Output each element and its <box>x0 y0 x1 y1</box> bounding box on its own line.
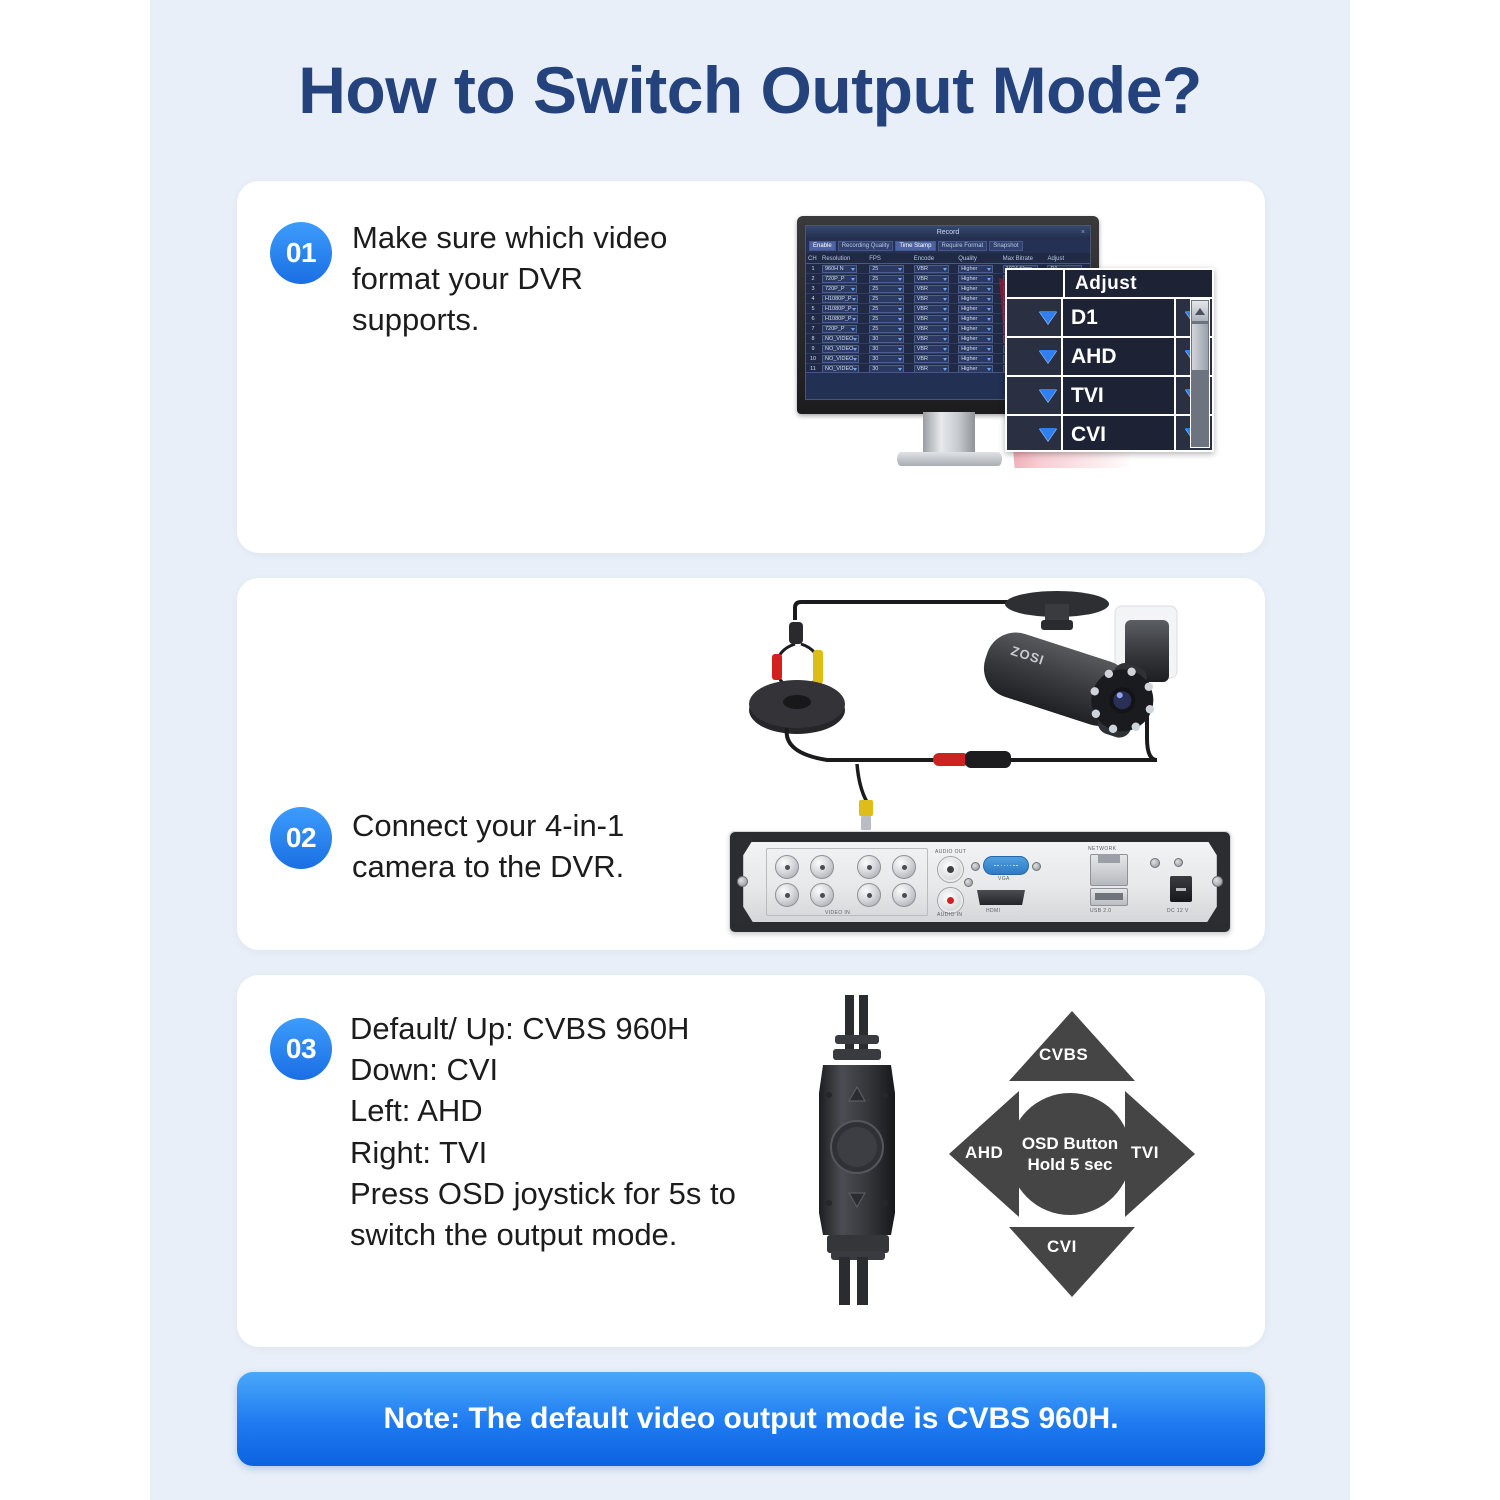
label-cvbs: CVBS <box>1039 1045 1088 1065</box>
audio-in-label: AUDIO IN <box>937 912 962 918</box>
dvr-bottom-edge <box>730 922 1230 932</box>
vga-screw-right-icon <box>1032 862 1041 871</box>
step-number-badge-03: 03 <box>270 1018 332 1080</box>
audio-out-port[interactable] <box>938 857 963 882</box>
step-card-02: 02 Connect your 4-in-1 camera to the DVR… <box>237 578 1265 950</box>
cell-encode[interactable]: VBR <box>912 354 956 364</box>
chevron-down-icon[interactable] <box>1039 350 1057 363</box>
cell-quality[interactable]: Higher <box>956 294 1000 304</box>
cell-quality[interactable]: Higher <box>956 324 1000 334</box>
record-window-titlebar: Record × <box>806 226 1090 239</box>
osd-center-line1: OSD Button <box>1022 1133 1118 1154</box>
adjust-panel-header: Adjust <box>1007 270 1212 299</box>
cell-fps[interactable]: 25 <box>867 264 911 274</box>
col-ch: CH <box>806 255 820 264</box>
osd-button-center[interactable]: OSD Button Hold 5 sec <box>1009 1093 1131 1215</box>
bnc-port-1[interactable] <box>775 855 799 879</box>
col-resolution: Resolution <box>820 255 867 264</box>
cell-encode[interactable]: VBR <box>912 324 956 334</box>
hdmi-port[interactable] <box>977 890 1025 905</box>
adjust-magnified-panel: Adjust D1AHDTVICVI <box>1005 268 1214 452</box>
bnc-port-7[interactable] <box>892 855 916 879</box>
cell-encode[interactable]: VBR <box>912 274 956 284</box>
cell-resolution[interactable]: 720P_P <box>820 274 867 284</box>
joystick-svg <box>797 995 927 1305</box>
cell-ch: 9 <box>806 344 820 354</box>
network-port[interactable] <box>1090 854 1128 886</box>
col-quality: Quality <box>956 255 1000 264</box>
scrollbar-thumb[interactable] <box>1192 324 1208 370</box>
chevron-down-icon[interactable] <box>1039 311 1057 324</box>
cell-encode[interactable]: VBR <box>912 264 956 274</box>
ground-icon <box>1174 858 1183 867</box>
adjust-left-chevron-cell[interactable] <box>1007 416 1063 452</box>
cell-resolution[interactable]: H1080P_P <box>820 304 867 314</box>
cell-ch: 8 <box>806 334 820 344</box>
cell-quality[interactable]: Higher <box>956 264 1000 274</box>
adjust-option-rows: D1AHDTVICVI <box>1007 299 1212 452</box>
cell-ch: 1 <box>806 264 820 274</box>
col-adjust: Adjust <box>1045 255 1090 264</box>
step-card-01: 01 Make sure which video format your DVR… <box>237 181 1265 553</box>
cell-resolution[interactable]: H1080P_P <box>820 314 867 324</box>
cell-quality[interactable]: Higher <box>956 344 1000 354</box>
camera-wiring-diagram: ZOSI <box>737 588 1207 838</box>
camera-dvr-illustration: ZOSI <box>727 588 1247 948</box>
output-mode-diamond: CVBS TVI CVI AHD OSD Button Hold 5 sec <box>947 1009 1197 1299</box>
monitor-stand-base <box>897 452 1002 466</box>
adjust-option-label: TVI <box>1063 384 1174 408</box>
cell-fps[interactable]: 30 <box>867 334 911 344</box>
cell-fps[interactable]: 25 <box>867 314 911 324</box>
cell-quality[interactable]: Higher <box>956 334 1000 344</box>
screw-mid-icon <box>964 878 973 887</box>
step-number-badge-02: 02 <box>270 807 332 869</box>
cell-resolution[interactable]: NO_VIDEO <box>820 334 867 344</box>
vga-label: VGA <box>998 876 1010 882</box>
adjust-option-label: CVI <box>1063 423 1174 447</box>
bnc-port-8[interactable] <box>892 883 916 907</box>
monitor-stand-neck <box>923 412 975 456</box>
close-icon[interactable]: × <box>1081 226 1085 239</box>
video-in-group: VIDEO IN <box>766 848 928 916</box>
note-banner: Note: The default video output mode is C… <box>237 1372 1265 1466</box>
screw-dc-icon <box>1150 858 1160 868</box>
adjust-option-row[interactable]: D1 <box>1007 299 1212 338</box>
adjust-left-chevron-cell[interactable] <box>1007 299 1063 336</box>
screw-left-icon <box>737 876 748 887</box>
page-title: How to Switch Output Mode? <box>150 52 1350 128</box>
cell-fps[interactable]: 30 <box>867 354 911 364</box>
adjust-option-row[interactable]: CVI <box>1007 416 1212 452</box>
label-cvi: CVI <box>1047 1237 1077 1257</box>
cell-resolution[interactable]: NO_VIDEO <box>820 344 867 354</box>
cell-encode[interactable]: VBR <box>912 284 956 294</box>
cell-quality[interactable]: Higher <box>956 274 1000 284</box>
tab-time-stamp[interactable]: Time Stamp <box>895 241 935 251</box>
usb-port[interactable] <box>1090 888 1128 906</box>
dc-power-port[interactable] <box>1170 876 1192 902</box>
bnc-port-3[interactable] <box>810 855 834 879</box>
step-text-02: Connect your 4-in-1 camera to the DVR. <box>352 805 692 887</box>
cell-resolution[interactable]: H1080P_P <box>820 294 867 304</box>
table-header-row: CH Resolution FPS Encode Quality Max Bit… <box>806 255 1090 264</box>
record-tab-bar: Enable Recording Quality Time Stamp Requ… <box>806 239 1090 253</box>
col-fps: FPS <box>867 255 911 264</box>
cell-quality[interactable]: Higher <box>956 284 1000 294</box>
record-window-title: Record <box>937 229 960 236</box>
usb-label: USB 2.0 <box>1090 908 1111 914</box>
adjust-left-chevron-cell[interactable] <box>1007 377 1063 414</box>
step-text-03: Default/ Up: CVBS 960H Down: CVI Left: A… <box>350 1008 770 1255</box>
cell-fps[interactable]: 25 <box>867 324 911 334</box>
audio-in-port[interactable] <box>938 888 963 913</box>
vga-screw-left-icon <box>971 862 980 871</box>
bnc-port-6[interactable] <box>857 883 881 907</box>
note-text: Note: The default video output mode is C… <box>383 1402 1118 1436</box>
cell-fps[interactable]: 25 <box>867 284 911 294</box>
cell-resolution[interactable]: NO_VIDEO <box>820 354 867 364</box>
cell-ch: 7 <box>806 324 820 334</box>
tab-snapshot[interactable]: Snapshot <box>989 241 1022 251</box>
cell-encode[interactable]: VBR <box>912 294 956 304</box>
osd-center-line2: Hold 5 sec <box>1027 1154 1112 1175</box>
step-number-badge-01: 01 <box>270 222 332 284</box>
cell-encode[interactable]: VBR <box>912 334 956 344</box>
cell-encode[interactable]: VBR <box>912 344 956 354</box>
cell-ch: 4 <box>806 294 820 304</box>
adjust-option-label: D1 <box>1063 306 1174 330</box>
bnc-port-4[interactable] <box>810 883 834 907</box>
adjust-left-chevron-cell[interactable] <box>1007 338 1063 375</box>
cell-ch: 6 <box>806 314 820 324</box>
cell-resolution[interactable]: 960H N <box>820 264 867 274</box>
col-encode: Encode <box>912 255 956 264</box>
video-in-label: VIDEO IN <box>825 910 850 916</box>
cell-quality[interactable]: Higher <box>956 304 1000 314</box>
adjust-scrollbar[interactable] <box>1190 299 1210 448</box>
dvr-top-edge <box>730 832 1230 842</box>
cell-ch: 3 <box>806 284 820 294</box>
tab-require-format[interactable]: Require Format <box>938 241 988 251</box>
camera-wiring-svg: ZOSI <box>737 588 1207 838</box>
scroll-up-icon[interactable] <box>1192 301 1208 321</box>
dvr-monitor-illustration: Record × Enable Recording Quality Time S… <box>737 208 1237 508</box>
tab-recording-quality[interactable]: Recording Quality <box>838 241 894 251</box>
osd-joystick-connector <box>797 995 927 1305</box>
cell-ch: 2 <box>806 274 820 284</box>
adjust-option-row[interactable]: TVI <box>1007 377 1212 416</box>
col-max-bitrate: Max Bitrate <box>1001 255 1046 264</box>
hdmi-label: HDMI <box>986 908 1000 914</box>
adjust-header-blank <box>1007 270 1065 297</box>
cell-quality[interactable]: Higher <box>956 354 1000 364</box>
step-card-03: 03 Default/ Up: CVBS 960H Down: CVI Left… <box>237 975 1265 1347</box>
dvr-rear-panel: VIDEO IN AUDIO OUT AUDIO IN VGA HDMI NET… <box>729 831 1231 933</box>
bnc-port-5[interactable] <box>857 855 881 879</box>
page-container: How to Switch Output Mode? 01 Make sure … <box>150 0 1350 1500</box>
cell-fps[interactable]: 25 <box>867 274 911 284</box>
joystick-mode-illustration: CVBS TVI CVI AHD OSD Button Hold 5 sec <box>757 995 1237 1325</box>
cell-fps[interactable]: 25 <box>867 304 911 314</box>
cell-encode[interactable]: VBR <box>912 314 956 324</box>
cell-fps[interactable]: 30 <box>867 344 911 354</box>
screw-right-icon <box>1212 876 1223 887</box>
network-label: NETWORK <box>1088 846 1116 852</box>
cell-ch: 5 <box>806 304 820 314</box>
vga-port[interactable] <box>983 856 1029 875</box>
cell-fps[interactable]: 25 <box>867 294 911 304</box>
cell-encode[interactable]: VBR <box>912 304 956 314</box>
tab-enable[interactable]: Enable <box>809 241 836 251</box>
cell-resolution[interactable]: 720P_P <box>820 324 867 334</box>
chevron-down-icon[interactable] <box>1039 428 1057 441</box>
chevron-down-icon[interactable] <box>1039 389 1057 402</box>
adjust-header-label: Adjust <box>1065 273 1212 295</box>
adjust-option-row[interactable]: AHD <box>1007 338 1212 377</box>
adjust-option-label: AHD <box>1063 345 1174 369</box>
cell-resolution[interactable]: 720P_P <box>820 284 867 294</box>
audio-out-label: AUDIO OUT <box>935 849 966 855</box>
dc-label: DC 12 V <box>1167 908 1189 914</box>
label-tvi: TVI <box>1131 1143 1159 1163</box>
cell-quality[interactable]: Higher <box>956 314 1000 324</box>
bnc-port-2[interactable] <box>775 883 799 907</box>
step-text-01: Make sure which video format your DVR su… <box>352 217 682 341</box>
cell-ch: 10 <box>806 354 820 364</box>
label-ahd: AHD <box>965 1143 1003 1163</box>
